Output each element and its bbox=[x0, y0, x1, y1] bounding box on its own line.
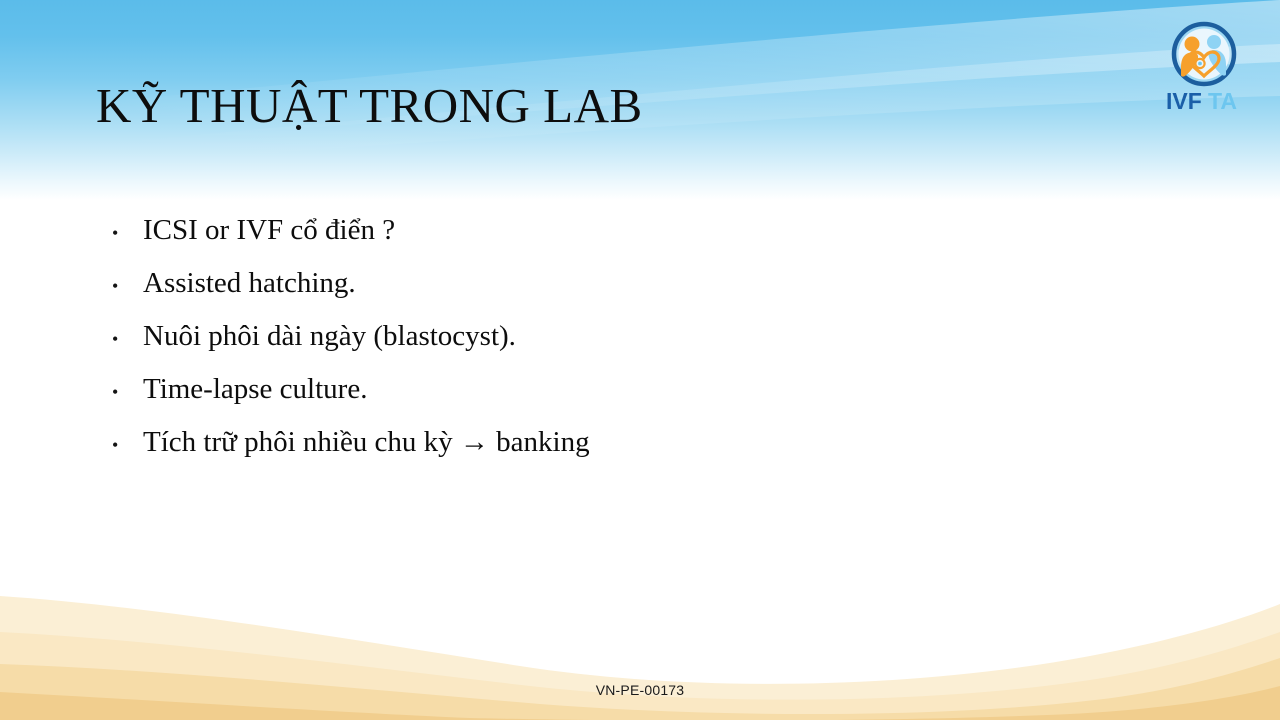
bullet-marker-icon: • bbox=[108, 370, 143, 414]
bullet-item-4: • Time-lapse culture. bbox=[108, 367, 1108, 420]
bullet-list: • ICSI or IVF cổ điển ? • Assisted hatch… bbox=[108, 208, 1108, 473]
bullet-text: Tích trữ phôi nhiều chu kỳ → banking bbox=[143, 420, 590, 464]
bullet-marker-icon: • bbox=[108, 317, 143, 361]
ivfta-logo: IVF TA bbox=[1156, 18, 1252, 118]
footer-reference-code: VN-PE-00173 bbox=[0, 682, 1280, 698]
logo-text-primary: IVF bbox=[1166, 88, 1202, 114]
bullet-item-2: • Assisted hatching. bbox=[108, 261, 1108, 314]
bullet-marker-icon: • bbox=[108, 264, 143, 308]
bullet-marker-icon: • bbox=[108, 423, 143, 467]
bullet-text: Nuôi phôi dài ngày (blastocyst). bbox=[143, 314, 516, 358]
bullet-text: Assisted hatching. bbox=[143, 261, 356, 305]
bullet-marker-icon: • bbox=[108, 211, 143, 255]
bullet-text: ICSI or IVF cổ điển ? bbox=[143, 208, 395, 252]
bullet-item-3: • Nuôi phôi dài ngày (blastocyst). bbox=[108, 314, 1108, 367]
bullet-text: Time-lapse culture. bbox=[143, 367, 367, 411]
slide-title: KỸ THUẬT TRONG LAB bbox=[96, 78, 643, 134]
slide: IVF TA KỸ THUẬT TRONG LAB • ICSI or IVF … bbox=[0, 0, 1280, 720]
bullet-item-1: • ICSI or IVF cổ điển ? bbox=[108, 208, 1108, 261]
logo-text-secondary: TA bbox=[1208, 88, 1237, 114]
bullet-item-5: • Tích trữ phôi nhiều chu kỳ → banking bbox=[108, 420, 1108, 473]
